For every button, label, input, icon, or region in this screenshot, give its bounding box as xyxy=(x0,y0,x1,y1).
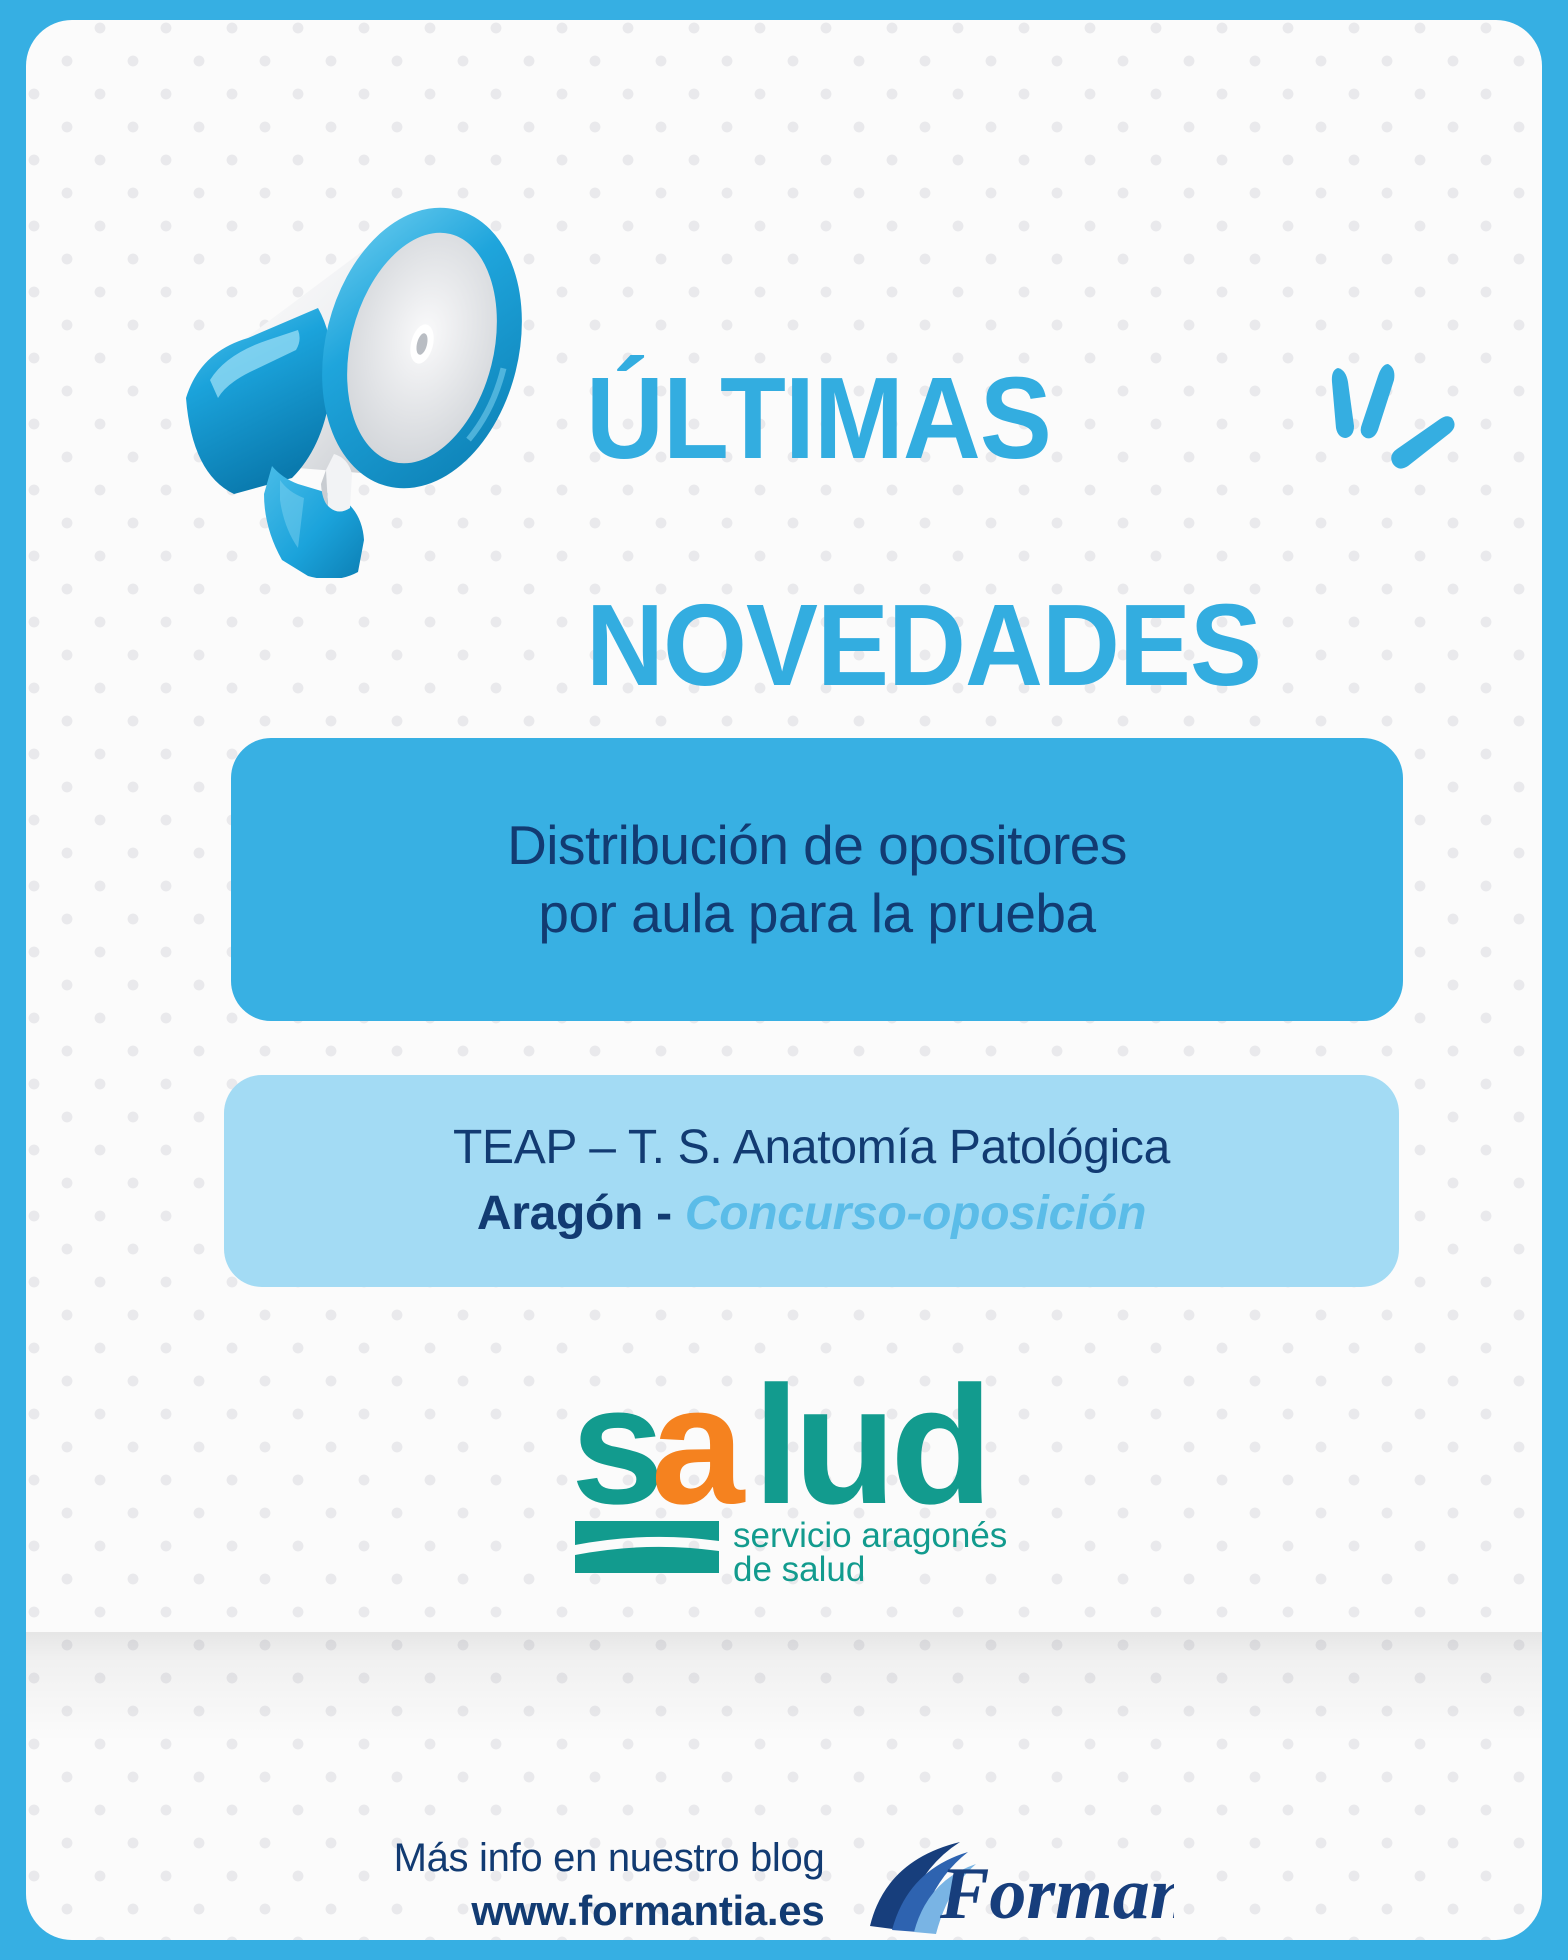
svg-text:lud: lud xyxy=(753,1375,987,1539)
headline-line-2: NOVEDADES xyxy=(586,589,1261,703)
footer-website-url[interactable]: www.formantia.es xyxy=(394,1884,825,1938)
announcement-secondary-box: TEAP – T. S. Anatomía Patológica Aragón … xyxy=(224,1075,1399,1287)
salud-wave-icon xyxy=(575,1521,719,1573)
svg-text:de salud: de salud xyxy=(733,1550,865,1589)
exam-separator: - xyxy=(656,1187,672,1240)
exam-region-process-line: Aragón - Concurso-oposición xyxy=(477,1184,1146,1244)
page-title: ÚLTIMAS NOVEDADES xyxy=(586,248,1261,816)
salud-logo: s a lud servicio aragonés de salud xyxy=(571,1375,1051,1595)
svg-text:s: s xyxy=(571,1375,658,1539)
exam-category-label: TEAP – T. S. Anatomía Patológica xyxy=(453,1118,1170,1178)
exam-region-label: Aragón xyxy=(477,1187,643,1240)
footer-blog-info: Más info en nuestro blog www.formantia.e… xyxy=(394,1833,825,1938)
announcement-primary-box: Distribución de opositores por aula para… xyxy=(231,738,1403,1021)
megaphone-icon xyxy=(122,148,542,578)
exam-process-label: Concurso-oposición xyxy=(685,1187,1146,1240)
formantia-logo[interactable]: Formantia xyxy=(864,1826,1174,1940)
footer-divider-shadow xyxy=(26,1632,1542,1752)
announcement-title-text: Distribución de opositores por aula para… xyxy=(507,812,1127,946)
spark-lines-icon xyxy=(1312,360,1472,520)
headline-line-1: ÚLTIMAS xyxy=(586,362,1261,476)
formantia-wordmark: Formantia xyxy=(939,1853,1174,1935)
footer-blog-line: Más info en nuestro blog xyxy=(394,1836,825,1880)
svg-text:a: a xyxy=(651,1375,746,1539)
footer: Más info en nuestro blog www.formantia.e… xyxy=(26,1820,1542,1940)
poster-card: ÚLTIMAS NOVEDADES Distribución de oposit… xyxy=(26,20,1542,1940)
